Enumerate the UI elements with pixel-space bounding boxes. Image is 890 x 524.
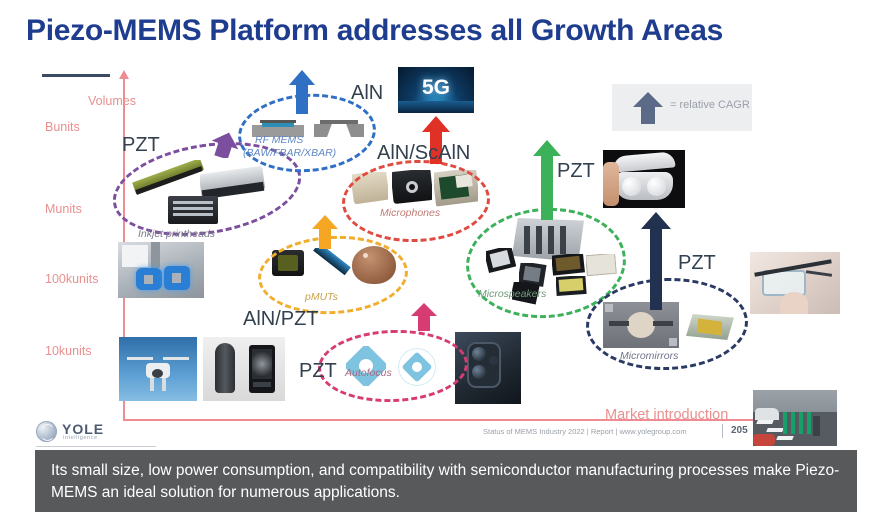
y-tick-100kunits: 100kunits (45, 272, 99, 286)
y-tick-munits: Munits (45, 202, 82, 216)
material-label-microspeakers: PZT (557, 160, 595, 183)
material-label-pmuts: AlN/PZT (243, 308, 319, 331)
material-label-rf-mems: AlN (351, 82, 383, 105)
cagr-arrow-micromirrors (640, 212, 672, 310)
cagr-arrow-rf-mems (288, 70, 316, 114)
material-label-microphones: AlN/ScAlN (377, 142, 470, 165)
axis-top-rule (42, 74, 110, 77)
slide-root: Piezo-MEMS Platform addresses all Growth… (0, 0, 890, 524)
cluster-caption-rf-mems-line1: RF MEMS (255, 134, 303, 146)
globe-icon (36, 421, 57, 442)
yole-logo: YOLE intelligence (36, 419, 156, 445)
image-5g-label: 5G (398, 76, 474, 100)
cluster-caption-micromirrors: Micromirrors (620, 350, 678, 362)
image-ar-glasses (750, 252, 840, 314)
image-5g-network: 5G (398, 67, 474, 113)
x-axis-title: Market introduction (605, 407, 728, 423)
caption-bar: Its small size, low power consumption, a… (35, 450, 857, 512)
image-ultrasound-probe (203, 337, 285, 401)
legend-label: = relative CAGR (670, 99, 750, 111)
legend-box: = relative CAGR (612, 84, 752, 131)
cagr-arrow-pmuts (311, 215, 339, 249)
image-drone (119, 337, 197, 401)
up-arrow-icon (630, 90, 666, 126)
yole-tagline: intelligence (63, 435, 98, 441)
material-label-inkjet: PZT (122, 134, 160, 157)
cluster-caption-microphones: Microphones (380, 207, 440, 219)
material-label-autofocus: PZT (299, 360, 337, 383)
y-tick-bunits: Bunits (45, 120, 80, 134)
image-wireless-earbuds (603, 150, 685, 208)
image-3d-printing (118, 242, 204, 298)
footer-divider (722, 424, 723, 438)
cluster-ellipse-microphones (341, 157, 492, 244)
logo-underline (36, 446, 156, 447)
page-title: Piezo-MEMS Platform addresses all Growth… (26, 14, 866, 47)
image-automotive-lidar (753, 390, 837, 446)
chart-area: Volumes Bunits Munits 100kunits 10kunits… (0, 60, 890, 425)
cagr-arrow-autofocus (410, 303, 438, 331)
y-tick-10kunits: 10kunits (45, 344, 92, 358)
page-number: 205 (731, 425, 748, 436)
source-note: Status of MEMS Industry 2022 | Report | … (483, 427, 687, 436)
y-axis-title: Volumes (88, 94, 136, 108)
cluster-caption-inkjet: Inkjet printheads (138, 228, 215, 240)
material-label-micromirrors: PZT (678, 252, 716, 275)
cluster-ellipse-autofocus (317, 327, 469, 404)
cluster-caption-autofocus: Autofocus (345, 367, 392, 379)
cluster-caption-rf-mems-line2: (BAW/FBAR/XBAR) (243, 147, 336, 159)
cluster-caption-microspeakers: Microspeakers (478, 288, 546, 300)
cluster-caption-pmuts: pMUTs (305, 291, 338, 303)
cagr-arrow-inkjet (210, 132, 240, 158)
